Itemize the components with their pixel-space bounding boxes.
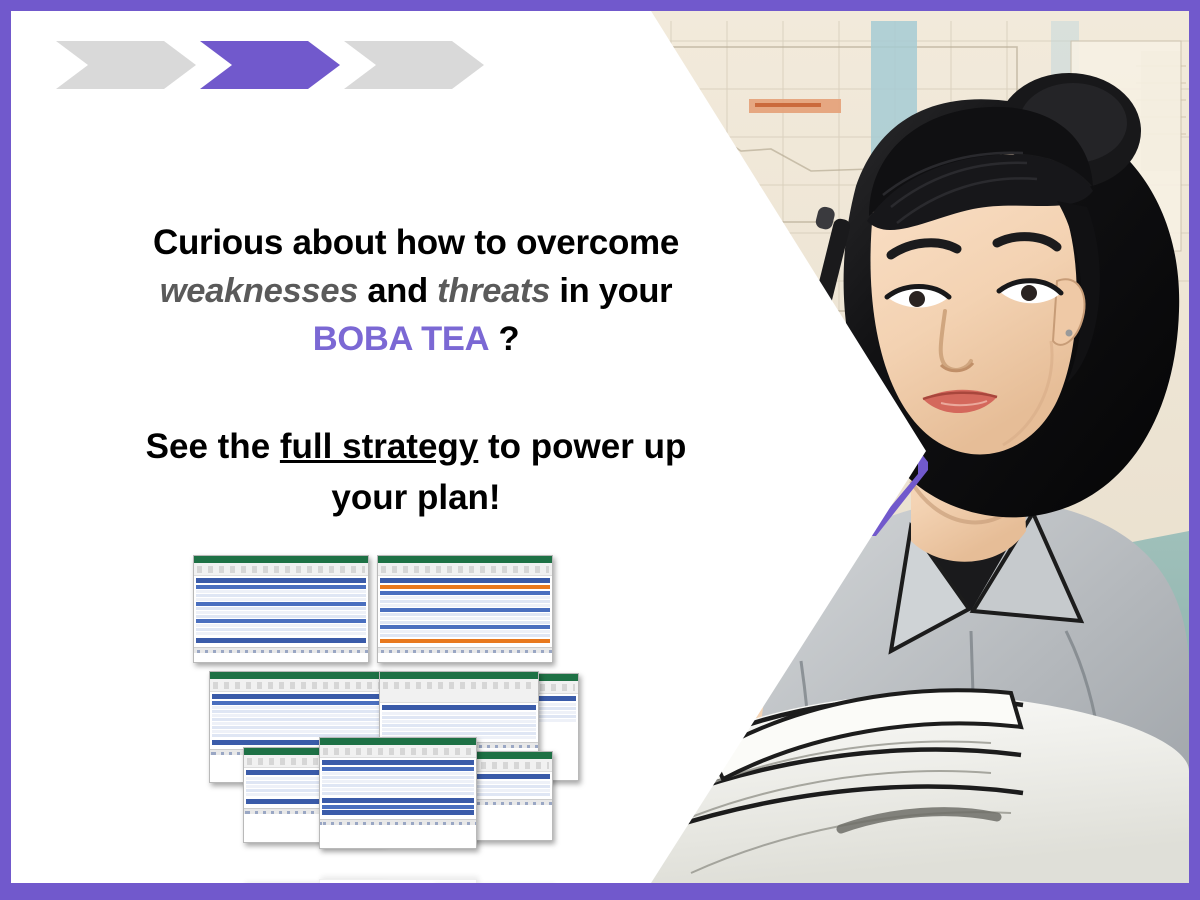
cta-emphasis-full-strategy[interactable]: full strategy bbox=[280, 427, 478, 466]
cta-line-1: See the full strategy to power up bbox=[51, 421, 781, 472]
headline-in-your: in your bbox=[559, 272, 672, 310]
excel-titlebar bbox=[194, 556, 368, 563]
cta-line-2: your plan! bbox=[51, 472, 781, 523]
excel-titlebar bbox=[378, 556, 552, 563]
headline-block: Curious about how to overcome weaknesses… bbox=[51, 219, 781, 363]
excel-window-8[interactable] bbox=[319, 737, 477, 849]
cta-suffix: to power up bbox=[488, 427, 686, 466]
excel-ribbon bbox=[194, 563, 368, 576]
headline-line-3: BOBA TEA ? bbox=[51, 315, 781, 363]
excel-ribbon bbox=[320, 745, 476, 758]
excel-sheet bbox=[194, 576, 368, 647]
cta-block: See the full strategy to power up your p… bbox=[51, 421, 781, 523]
cta-prefix: See the bbox=[146, 427, 271, 466]
excel-ribbon bbox=[210, 679, 388, 692]
spreadsheet-collage[interactable] bbox=[191, 551, 571, 883]
excel-titlebar bbox=[320, 738, 476, 745]
headline-emphasis-threats: threats bbox=[437, 272, 550, 310]
headline-and: and bbox=[367, 272, 427, 310]
progress-chevron-step-1[interactable] bbox=[56, 41, 196, 89]
progress-chevron-step-2[interactable] bbox=[200, 41, 340, 89]
slide-inner-canvas: Curious about how to overcome weaknesses… bbox=[11, 11, 1189, 883]
cta-space-2 bbox=[478, 427, 488, 466]
headline-line-2: weaknesses and threats in your bbox=[51, 267, 781, 315]
headline-subject: BOBA TEA bbox=[313, 320, 490, 358]
excel-titlebar bbox=[210, 672, 388, 679]
cta-space-1 bbox=[270, 427, 280, 466]
headline-question-mark: ? bbox=[499, 320, 520, 358]
slide-root: Curious about how to overcome weaknesses… bbox=[0, 0, 1200, 900]
headline-space-2 bbox=[428, 272, 437, 310]
excel-statusbar bbox=[378, 647, 552, 653]
excel-sheet bbox=[378, 576, 552, 647]
progress-chevron-strip bbox=[46, 37, 486, 93]
headline-space-3 bbox=[550, 272, 559, 310]
excel-statusbar bbox=[320, 819, 476, 825]
excel-window-1[interactable] bbox=[193, 555, 369, 663]
headline-emphasis-weaknesses: weaknesses bbox=[160, 272, 358, 310]
headline-conjunction bbox=[358, 272, 367, 310]
excel-ribbon bbox=[380, 679, 538, 703]
excel-ribbon bbox=[378, 563, 552, 576]
headline-line-1: Curious about how to overcome bbox=[51, 219, 781, 267]
excel-titlebar bbox=[380, 672, 538, 679]
headline-space-4 bbox=[489, 320, 498, 358]
excel-sheet bbox=[320, 758, 476, 819]
excel-window-2[interactable] bbox=[377, 555, 553, 663]
excel-statusbar bbox=[194, 647, 368, 653]
progress-chevron-step-3[interactable] bbox=[344, 41, 484, 89]
